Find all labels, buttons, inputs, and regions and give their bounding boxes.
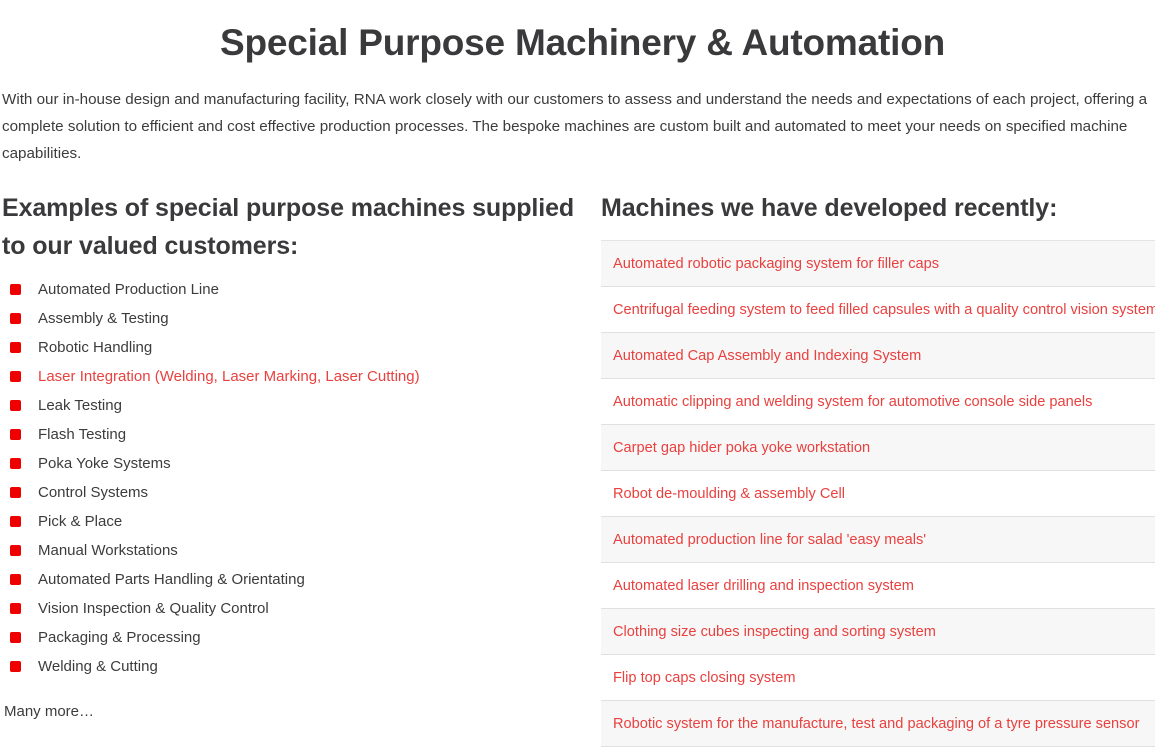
special-purpose-machine-list: Automated Production LineAssembly & Test… xyxy=(2,275,601,681)
table-row[interactable]: Flip top caps closing system xyxy=(601,655,1155,701)
intro-paragraph: With our in-house design and manufacturi… xyxy=(0,68,1165,167)
red-square-bullet-icon xyxy=(10,284,21,295)
list-item[interactable]: Laser Integration (Welding, Laser Markin… xyxy=(2,362,601,391)
table-row[interactable]: Automated robotic packaging system for f… xyxy=(601,241,1155,287)
list-item: Welding & Cutting xyxy=(2,652,601,681)
red-square-bullet-icon xyxy=(10,487,21,498)
table-row[interactable]: Automatic clipping and welding system fo… xyxy=(601,379,1155,425)
right-column-heading: Machines we have developed recently: xyxy=(601,189,1155,227)
list-item: Robotic Handling xyxy=(2,333,601,362)
red-square-bullet-icon xyxy=(10,603,21,614)
red-square-bullet-icon xyxy=(10,429,21,440)
red-square-bullet-icon xyxy=(10,661,21,672)
page-title: Special Purpose Machinery & Automation xyxy=(0,0,1165,68)
list-item: Flash Testing xyxy=(2,420,601,449)
table-row[interactable]: Robot de-moulding & assembly Cell xyxy=(601,471,1155,517)
red-square-bullet-icon xyxy=(10,574,21,585)
red-square-bullet-icon xyxy=(10,313,21,324)
list-item: Vision Inspection & Quality Control xyxy=(2,594,601,623)
red-square-bullet-icon xyxy=(10,545,21,556)
page-container: Special Purpose Machinery & Automation W… xyxy=(0,0,1165,738)
red-square-bullet-icon xyxy=(10,516,21,527)
list-item: Control Systems xyxy=(2,478,601,507)
table-row[interactable]: Automated Cap Assembly and Indexing Syst… xyxy=(601,333,1155,379)
list-item: Poka Yoke Systems xyxy=(2,449,601,478)
list-item-label: Manual Workstations xyxy=(38,542,178,559)
list-item-label: Robotic Handling xyxy=(38,339,152,356)
list-item: Assembly & Testing xyxy=(2,304,601,333)
recent-machines-table: Automated robotic packaging system for f… xyxy=(601,240,1155,747)
table-row[interactable]: Robotic system for the manufacture, test… xyxy=(601,701,1155,747)
list-item: Automated Production Line xyxy=(2,275,601,304)
list-item: Leak Testing xyxy=(2,391,601,420)
red-square-bullet-icon xyxy=(10,342,21,353)
table-row[interactable]: Carpet gap hider poka yoke workstation xyxy=(601,425,1155,471)
list-item: Automated Parts Handling & Orientating xyxy=(2,565,601,594)
table-row[interactable]: Centrifugal feeding system to feed fille… xyxy=(601,287,1155,333)
list-item-label: Vision Inspection & Quality Control xyxy=(38,600,269,617)
list-item-label: Flash Testing xyxy=(38,426,126,443)
red-square-bullet-icon xyxy=(10,632,21,643)
list-item-label: Assembly & Testing xyxy=(38,310,169,327)
list-item-label: Poka Yoke Systems xyxy=(38,455,171,472)
red-square-bullet-icon xyxy=(10,400,21,411)
left-column-heading: Examples of special purpose machines sup… xyxy=(2,189,601,265)
list-item-label: Packaging & Processing xyxy=(38,629,201,646)
table-row[interactable]: Automated production line for salad 'eas… xyxy=(601,517,1155,563)
list-item-label: Leak Testing xyxy=(38,397,122,414)
right-column: Machines we have developed recently: Aut… xyxy=(601,189,1165,747)
list-item-label: Automated Parts Handling & Orientating xyxy=(38,571,305,588)
list-item-label: Welding & Cutting xyxy=(38,658,158,675)
table-row[interactable]: Automated laser drilling and inspection … xyxy=(601,563,1155,609)
red-square-bullet-icon xyxy=(10,458,21,469)
two-column-layout: Examples of special purpose machines sup… xyxy=(0,189,1165,747)
red-square-bullet-icon xyxy=(10,371,21,382)
list-item-label: Control Systems xyxy=(38,484,148,501)
list-item-link[interactable]: Laser Integration (Welding, Laser Markin… xyxy=(38,368,420,385)
many-more-note: Many more… xyxy=(4,702,601,722)
list-item-label: Automated Production Line xyxy=(38,281,219,298)
list-item: Packaging & Processing xyxy=(2,623,601,652)
table-row[interactable]: Clothing size cubes inspecting and sorti… xyxy=(601,609,1155,655)
list-item-label: Pick & Place xyxy=(38,513,122,530)
list-item: Pick & Place xyxy=(2,507,601,536)
list-item: Manual Workstations xyxy=(2,536,601,565)
left-column: Examples of special purpose machines sup… xyxy=(0,189,601,722)
